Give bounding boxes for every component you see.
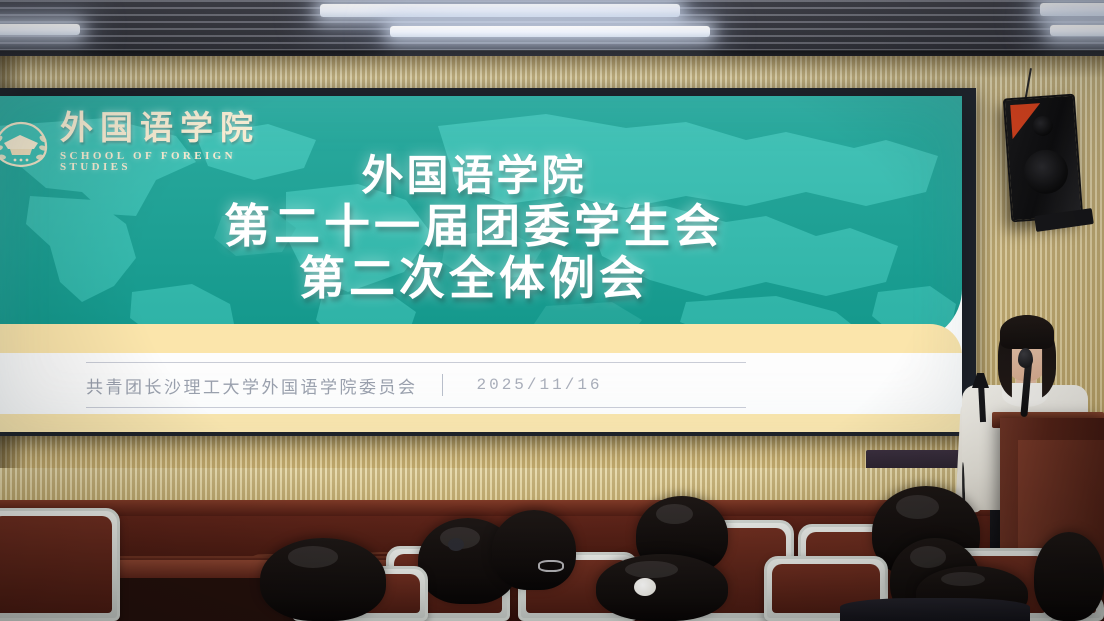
audience-head-6 xyxy=(1034,532,1104,621)
hair-highlight xyxy=(625,561,678,578)
hair-flower-icon xyxy=(634,578,656,596)
slide-title-line-3: 第二次全体例会 xyxy=(0,253,962,305)
hair-highlight xyxy=(656,504,693,524)
wall-pa-speaker xyxy=(1003,94,1083,223)
ceiling-light-4 xyxy=(1040,3,1104,16)
speaker-woofer xyxy=(1022,148,1069,195)
footer-separator xyxy=(442,374,443,396)
slide-title-line-2: 第二十一届团委学生会 xyxy=(0,201,962,253)
presentation-slide: 外国语学院 SCHOOL OF FOREIGN STUDIES 外国语学院 第二… xyxy=(0,96,962,432)
hair-tie-icon xyxy=(448,538,464,551)
hair-highlight xyxy=(910,546,946,568)
hair-highlight xyxy=(896,495,939,519)
footer-date: 2025/11/16 xyxy=(477,376,603,394)
speaker-tweeter xyxy=(1032,115,1053,136)
ceiling-light-1 xyxy=(0,24,80,35)
microphone-icon xyxy=(1018,348,1033,368)
ceiling-light-3 xyxy=(390,26,710,37)
seat-row1-1 xyxy=(0,508,120,621)
audience-shoulder xyxy=(840,598,1030,621)
presenter-hair-top xyxy=(1000,315,1054,349)
hair-highlight xyxy=(941,572,986,586)
audience-head-7 xyxy=(260,538,386,621)
slide-cream-band xyxy=(0,324,962,356)
glasses-icon xyxy=(538,560,564,572)
audience-head-4 xyxy=(492,510,576,590)
slide-bottom-band xyxy=(0,414,962,432)
ceiling-light-5 xyxy=(1050,25,1104,36)
footer-organization: 共青团长沙理工大学外国语学院委员会 xyxy=(86,373,418,398)
slide-title-block: 外国语学院 第二十一届团委学生会 第二次全体例会 xyxy=(0,154,962,304)
slide-title-line-1: 外国语学院 xyxy=(0,154,962,201)
logo-chinese-name: 外国语学院 xyxy=(60,113,290,146)
audience-head-8 xyxy=(596,554,728,621)
projection-screen: 外国语学院 SCHOOL OF FOREIGN STUDIES 外国语学院 第二… xyxy=(0,88,976,436)
hair-highlight xyxy=(288,546,338,568)
auditorium-scene: 外国语学院 SCHOOL OF FOREIGN STUDIES 外国语学院 第二… xyxy=(0,0,1104,621)
footer-rule-bottom xyxy=(86,407,746,408)
wall-top-shadow xyxy=(0,56,1104,78)
ceiling-light-2 xyxy=(320,4,680,17)
slide-footer: 共青团长沙理工大学外国语学院委员会 2025/11/16 xyxy=(86,362,806,408)
footer-rule-top xyxy=(86,362,746,363)
